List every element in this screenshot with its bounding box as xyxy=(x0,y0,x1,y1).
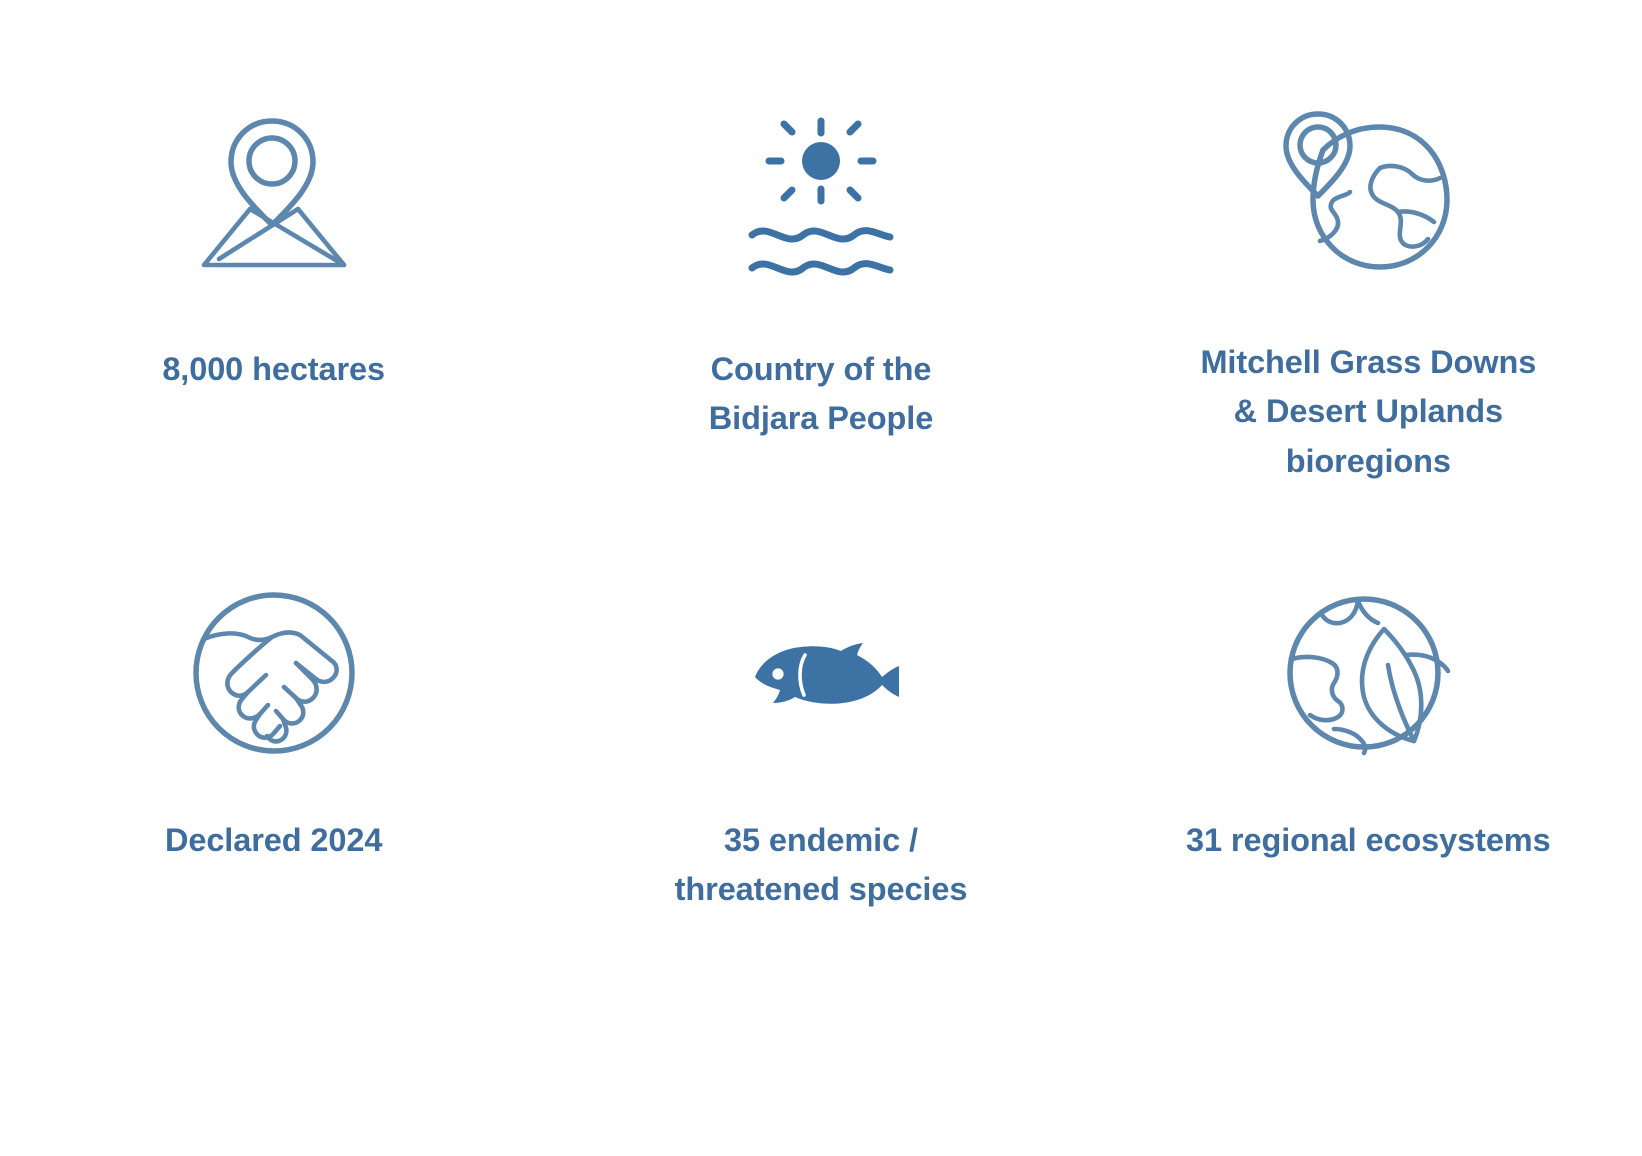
stat-label-line: Mitchell Grass Downs xyxy=(1200,338,1536,387)
stat-label-country: Country of the Bidjara People xyxy=(709,345,933,444)
stat-label-line: Bidjara People xyxy=(709,394,933,443)
stat-label-line: 31 regional ecosystems xyxy=(1186,816,1551,865)
stat-card-bioregions: Mitchell Grass Downs & Desert Uplands bi… xyxy=(1095,0,1642,480)
stat-label-line: Declared 2024 xyxy=(165,816,382,865)
sun-over-water-icon xyxy=(726,108,916,283)
stat-label-line: threatened species xyxy=(675,865,968,914)
fish-icon xyxy=(726,585,916,760)
stat-card-country: Country of the Bidjara People xyxy=(547,0,1094,480)
stat-label-line: 8,000 hectares xyxy=(162,345,385,394)
stat-card-hectares: 8,000 hectares xyxy=(0,0,547,480)
stat-label-line: bioregions xyxy=(1200,437,1536,486)
stat-label-declared: Declared 2024 xyxy=(165,816,382,865)
stats-grid: 8,000 hectares xyxy=(0,0,1642,1010)
stat-label-line: 35 endemic / xyxy=(675,816,968,865)
stat-card-species: 35 endemic / threatened species xyxy=(547,480,1094,960)
stat-label-line: Country of the xyxy=(709,345,933,394)
stats-infographic: 8,000 hectares xyxy=(0,0,1642,1156)
map-pin-location-icon xyxy=(179,108,369,283)
stat-label-species: 35 endemic / threatened species xyxy=(675,816,968,915)
stat-label-bioregions: Mitchell Grass Downs & Desert Uplands bi… xyxy=(1200,338,1536,486)
stat-card-ecosystems: 31 regional ecosystems xyxy=(1095,480,1642,960)
globe-with-pin-icon xyxy=(1273,108,1463,276)
globe-with-leaves-icon xyxy=(1273,585,1463,760)
stat-label-line: & Desert Uplands xyxy=(1200,387,1536,436)
handshake-circle-icon xyxy=(179,585,369,760)
stat-label-hectares: 8,000 hectares xyxy=(162,345,385,394)
stat-label-ecosystems: 31 regional ecosystems xyxy=(1186,816,1551,865)
stat-card-declared: Declared 2024 xyxy=(0,480,547,960)
